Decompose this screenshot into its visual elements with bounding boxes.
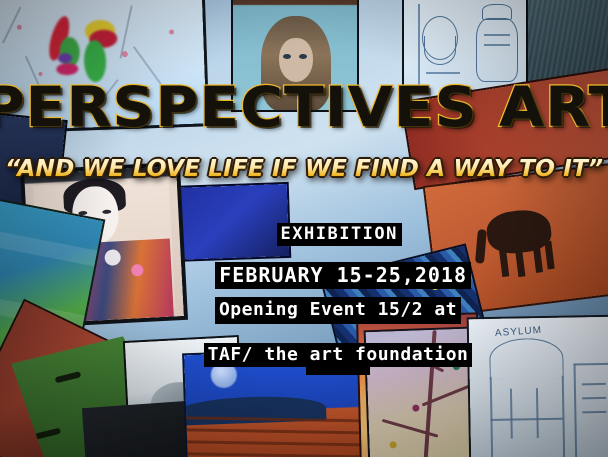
opening-event-line1: Opening Event 15/2 at (215, 297, 461, 324)
venue-label: TAF/ the art foundation (0, 322, 608, 388)
poster-text-layer: PERSPECTIVES ART “AND WE LOVE LIFE IF WE… (0, 0, 608, 457)
poster-subtitle: “AND WE LOVE LIFE IF WE FIND A WAY TO IT… (0, 155, 608, 183)
exhibition-poster: ASYLUM PERSPECTIVES ART “AND WE LOVE LIF… (0, 0, 608, 457)
venue-label-text: TAF/ the art foundation (204, 343, 473, 367)
page-title: PERSPECTIVES ART (0, 78, 608, 136)
